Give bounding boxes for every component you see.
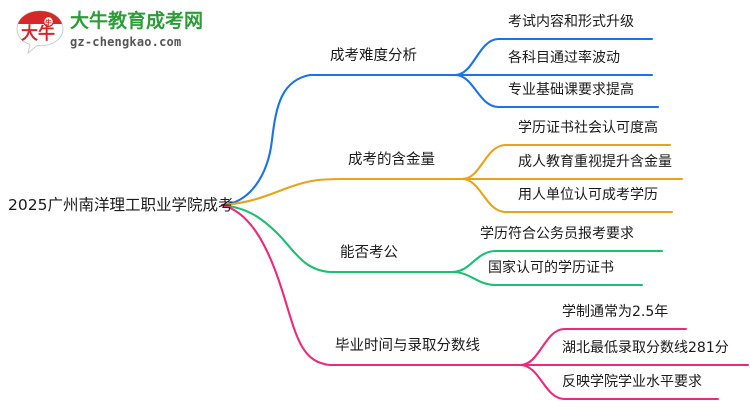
mindmap-canvas: 牛 大牛 大牛教育成考网 gz-chengkao.com [0,0,750,410]
leaf-label-4-1[interactable]: 学制通常为2.5年 [562,304,668,321]
leaf-label-1-2[interactable]: 各科目通过率波动 [508,50,620,67]
branch-label-1[interactable]: 成考难度分析 [330,48,417,65]
branch-label-3[interactable]: 能否考公 [340,245,398,262]
mindmap-root-label[interactable]: 2025广州南洋理工职业学院成考 [8,196,233,214]
leaf-label-2-1[interactable]: 学历证书社会认可度高 [518,120,658,137]
leaf-label-1-1[interactable]: 考试内容和形式升级 [508,14,634,31]
leaf-label-4-3[interactable]: 反映学院学业水平要求 [562,374,702,391]
leaf-label-3-1[interactable]: 学历符合公务员报考要求 [480,226,634,243]
leaf-label-4-2[interactable]: 湖北最低录取分数线281分 [562,340,729,357]
leaf-label-1-3[interactable]: 专业基础课要求提高 [508,82,634,99]
leaf-label-2-3[interactable]: 用人单位认可成考学历 [518,187,658,204]
branch-label-4[interactable]: 毕业时间与录取分数线 [335,338,480,355]
leaf-label-3-2[interactable]: 国家认可的学历证书 [488,260,614,277]
branch-label-2[interactable]: 成考的含金量 [348,152,435,169]
leaf-label-2-2[interactable]: 成人教育重视提升含金量 [518,154,672,171]
